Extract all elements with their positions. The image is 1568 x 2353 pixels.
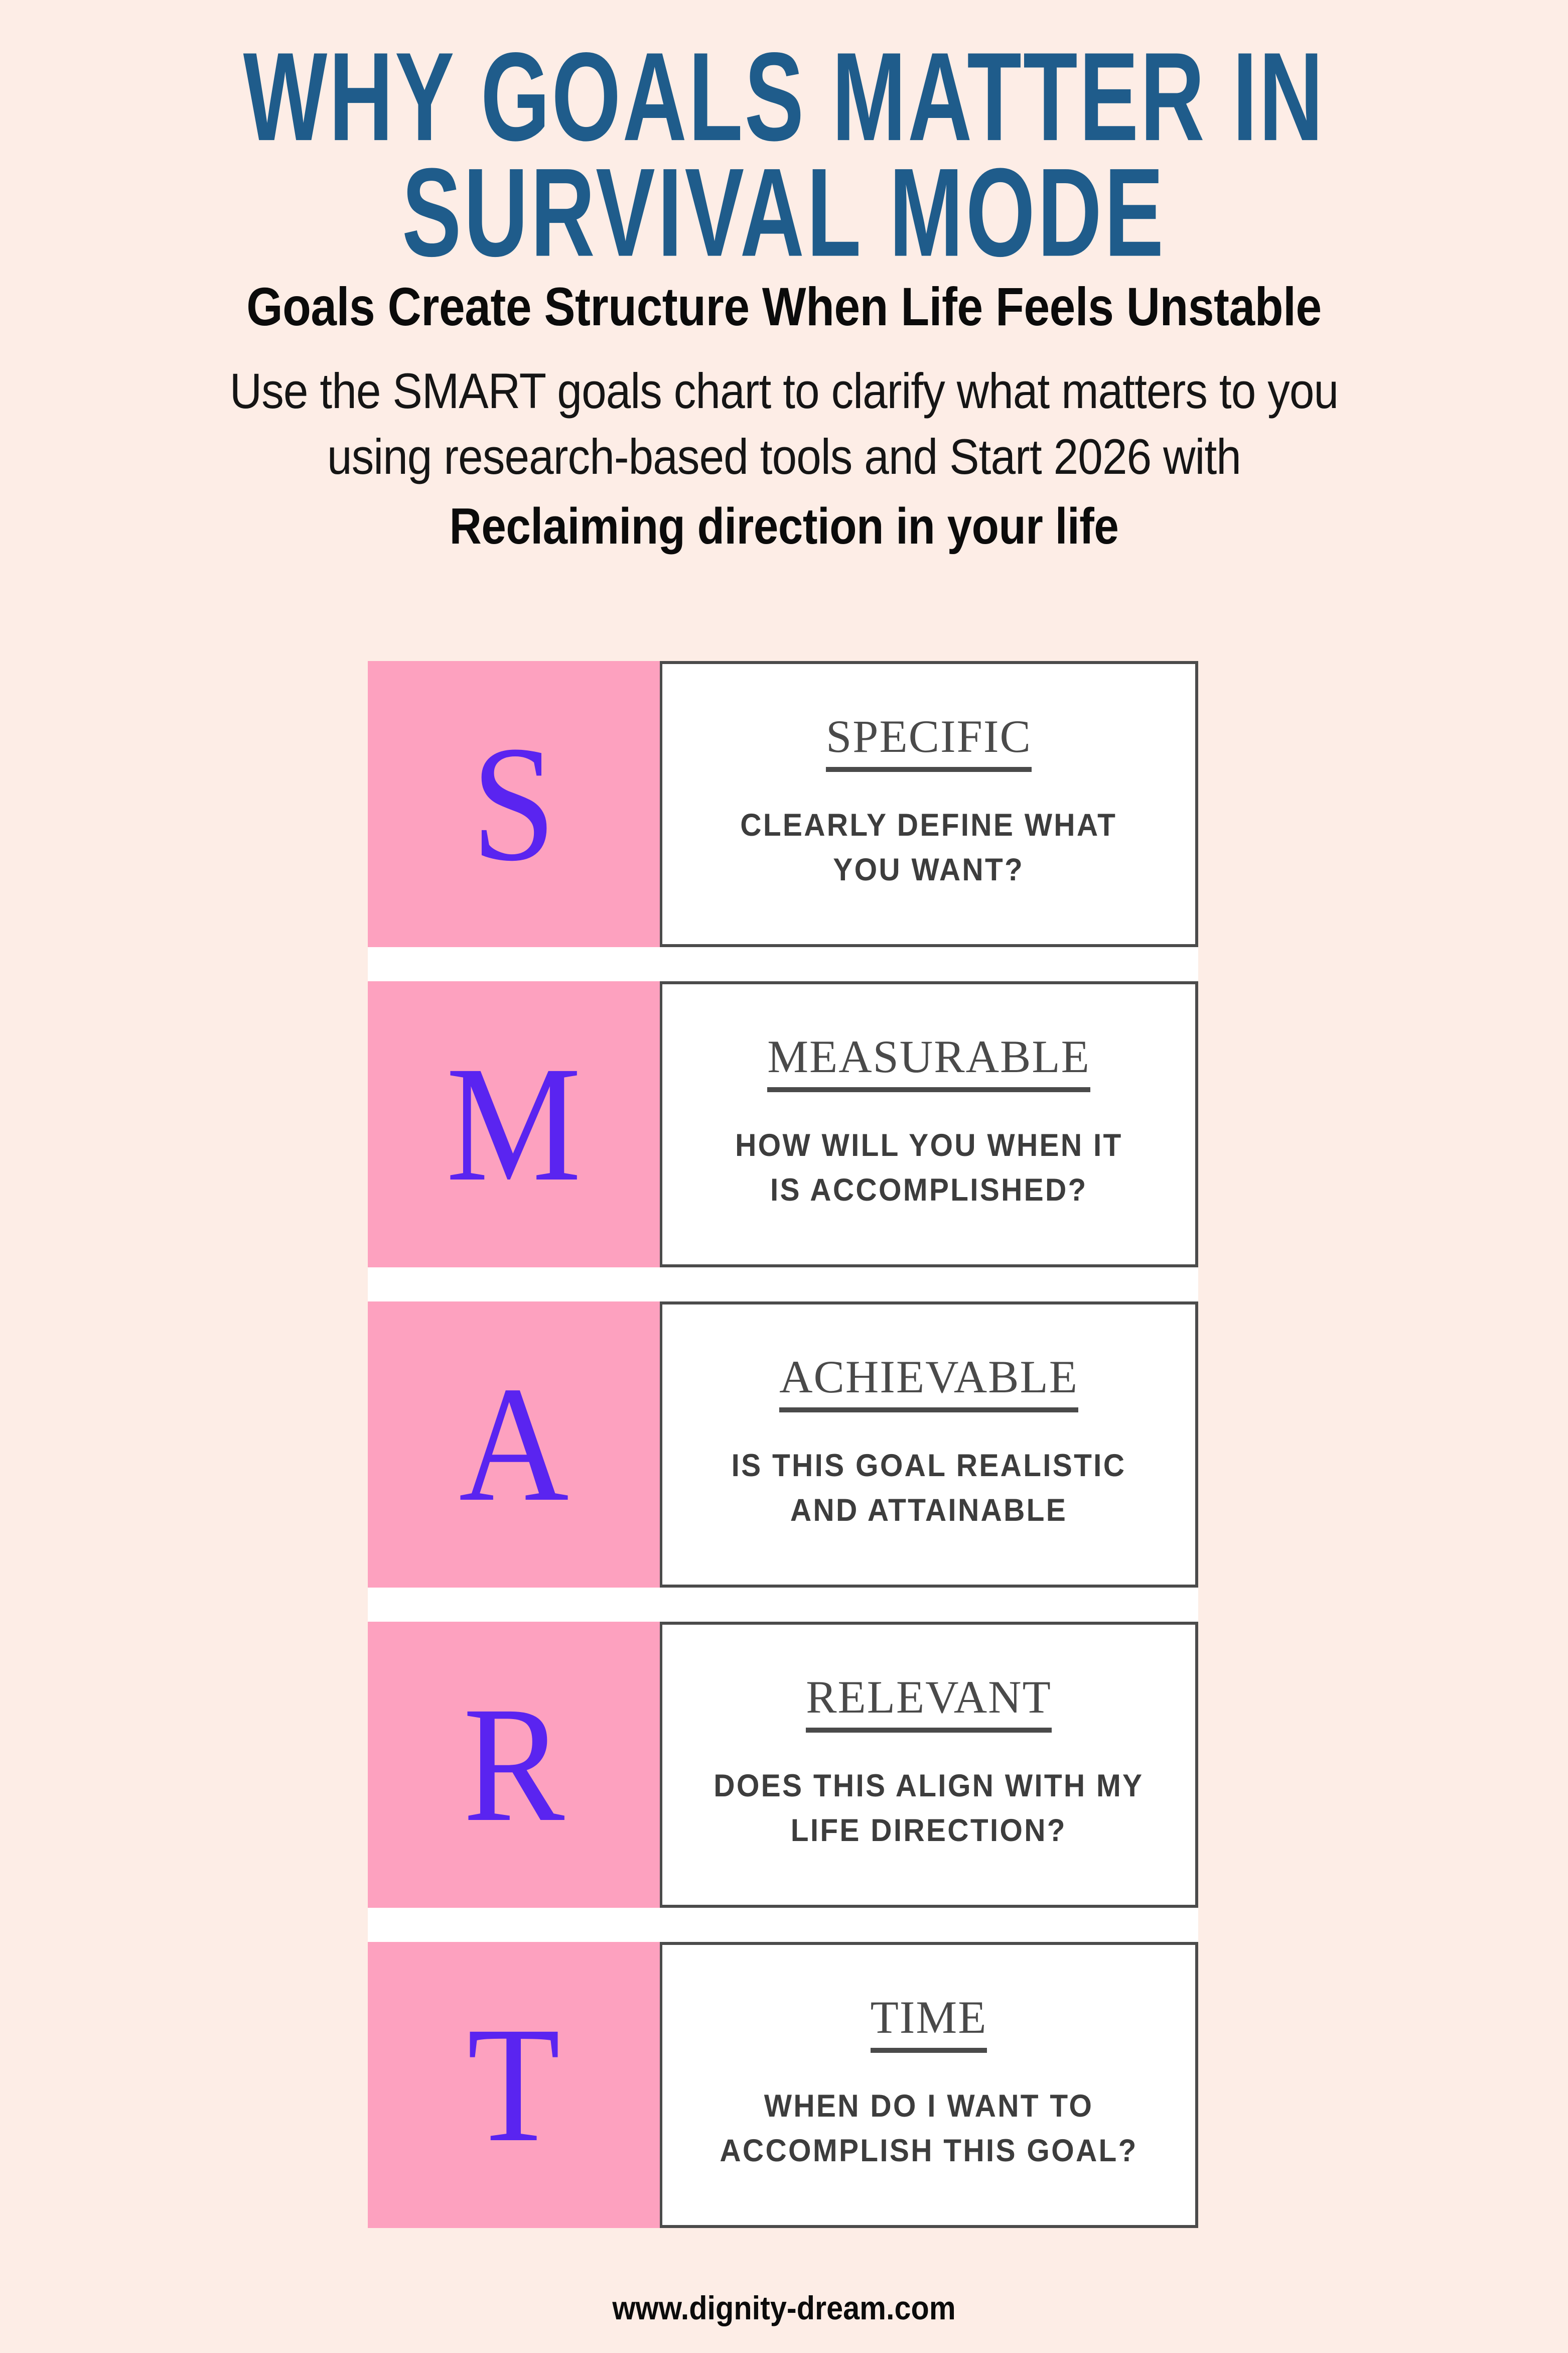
footer-website[interactable]: www.dignity-dream.com (78, 2289, 1490, 2327)
smart-card-time: TIME WHEN DO I WANT TO ACCOMPLISH THIS G… (660, 1942, 1198, 2228)
smart-card-relevant: RELEVANT DOES THIS ALIGN WITH MY LIFE DI… (660, 1622, 1198, 1908)
letter-block-t: T (368, 1942, 660, 2228)
smart-description: HOW WILL YOU WHEN IT IS ACCOMPLISHED? (735, 1123, 1122, 1213)
keyword-wrap: RELEVANT (806, 1673, 1052, 1733)
smart-description: IS THIS GOAL REALISTIC AND ATTAINABLE (732, 1444, 1126, 1533)
smart-keyword: TIME (871, 1993, 987, 2053)
smart-row-time: T TIME WHEN DO I WANT TO ACCOMPLISH THIS… (368, 1942, 1198, 2228)
smart-letter: T (467, 2002, 560, 2168)
page-title-line-1: WHY GOALS MATTER IN (157, 39, 1411, 155)
smart-description: CLEARLY DEFINE WHAT YOU WANT? (741, 803, 1117, 893)
keyword-wrap: ACHIEVABLE (779, 1353, 1078, 1412)
smart-keyword: RELEVANT (806, 1673, 1052, 1733)
smart-keyword: ACHIEVABLE (779, 1353, 1078, 1412)
keyword-wrap: SPECIFIC (826, 712, 1032, 772)
smart-card-measurable: MEASURABLE HOW WILL YOU WHEN IT IS ACCOM… (660, 981, 1198, 1267)
smart-row-measurable: M MEASURABLE HOW WILL YOU WHEN IT IS ACC… (368, 981, 1198, 1267)
smart-description: DOES THIS ALIGN WITH MY LIFE DIRECTION? (714, 1764, 1144, 1854)
letter-block-s: S (368, 661, 660, 947)
smart-letter: M (446, 1041, 582, 1207)
smart-letter: R (463, 1682, 565, 1848)
lead-emphasis: Reclaiming direction in your life (94, 499, 1474, 555)
page-title: WHY GOALS MATTER IN SURVIVAL MODE (157, 39, 1411, 271)
letter-block-a: A (368, 1301, 660, 1588)
smart-letter: A (459, 1362, 568, 1527)
smart-keyword: MEASURABLE (767, 1032, 1090, 1092)
smart-row-relevant: R RELEVANT DOES THIS ALIGN WITH MY LIFE … (368, 1622, 1198, 1908)
header-block: WHY GOALS MATTER IN SURVIVAL MODE Goals … (0, 0, 1568, 555)
letter-block-m: M (368, 981, 660, 1267)
subheadline: Goals Create Structure When Life Feels U… (110, 279, 1459, 334)
lead-line-1: Use the SMART goals chart to clarify wha… (78, 358, 1490, 424)
keyword-wrap: TIME (871, 1993, 987, 2053)
page-title-line-2: SURVIVAL MODE (157, 155, 1411, 271)
lead-paragraph: Use the SMART goals chart to clarify wha… (78, 358, 1490, 490)
smart-goals-chart: S SPECIFIC CLEARLY DEFINE WHAT YOU WANT?… (368, 661, 1198, 2228)
lead-line-2: using research-based tools and Start 202… (78, 424, 1490, 490)
smart-row-specific: S SPECIFIC CLEARLY DEFINE WHAT YOU WANT? (368, 661, 1198, 947)
infographic-page: WHY GOALS MATTER IN SURVIVAL MODE Goals … (0, 0, 1568, 2353)
smart-keyword: SPECIFIC (826, 712, 1032, 772)
letter-block-r: R (368, 1622, 660, 1908)
smart-card-specific: SPECIFIC CLEARLY DEFINE WHAT YOU WANT? (660, 661, 1198, 947)
smart-letter: S (472, 721, 556, 887)
smart-description: WHEN DO I WANT TO ACCOMPLISH THIS GOAL? (720, 2084, 1137, 2174)
smart-card-achievable: ACHIEVABLE IS THIS GOAL REALISTIC AND AT… (660, 1301, 1198, 1588)
keyword-wrap: MEASURABLE (767, 1032, 1090, 1092)
smart-row-achievable: A ACHIEVABLE IS THIS GOAL REALISTIC AND … (368, 1301, 1198, 1588)
